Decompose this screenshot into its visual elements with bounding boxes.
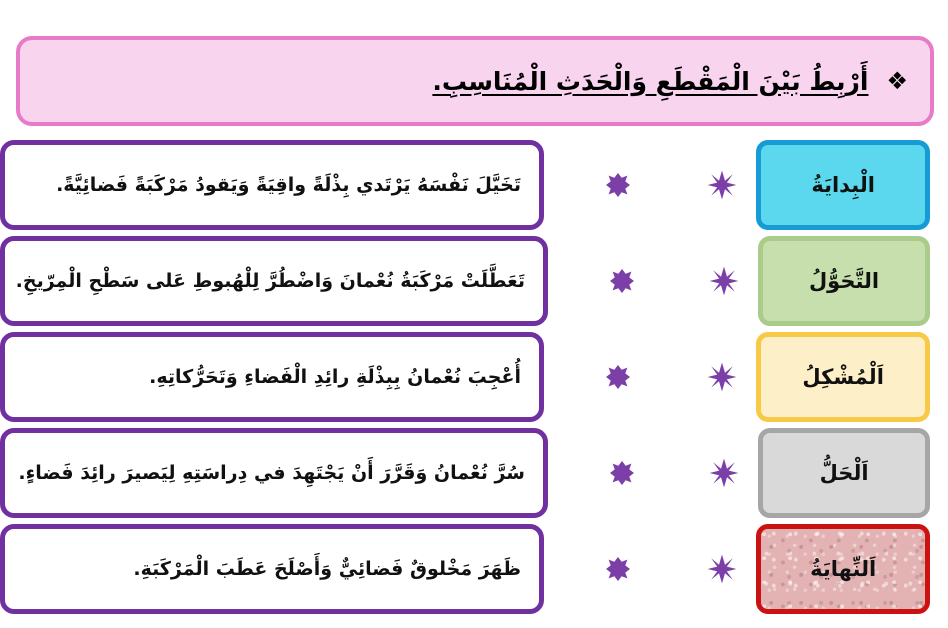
label-chip-text: اَلنِّهايَةُ: [810, 557, 876, 581]
sentence-text: سُرَّ نُعْمانُ وَقَرَّرَ أَنْ يَجْتَهِدَ…: [23, 459, 525, 488]
eight-point-sharp-star-icon[interactable]: [707, 554, 737, 584]
label-chip-end[interactable]: اَلنِّهايَةُ: [756, 524, 930, 614]
sentence-text: ظَهَرَ مَخْلوقٌ فَضائِيٌّ وَأَصْلَحَ عَط…: [23, 555, 521, 584]
connector-left-slot[interactable]: [544, 332, 693, 422]
sentence-card[interactable]: ظَهَرَ مَخْلوقٌ فَضائِيٌّ وَأَصْلَحَ عَط…: [0, 524, 544, 614]
label-chip-change[interactable]: التَّحَوُّلُ: [758, 236, 930, 326]
eight-point-blunt-star-icon[interactable]: [605, 364, 631, 390]
connector-left-slot[interactable]: [544, 140, 693, 230]
sentence-text: تَخَيَّلَ نَفْسَهُ يَرْتَدي بِذْلَةً واق…: [23, 171, 521, 200]
connector-left-slot[interactable]: [544, 524, 693, 614]
label-chip-problem[interactable]: اَلْمُشْكِلُ: [756, 332, 930, 422]
eight-point-sharp-star-icon[interactable]: [709, 458, 739, 488]
eight-point-sharp-star-icon[interactable]: [707, 362, 737, 392]
label-chip-text: اَلْحَلُّ: [820, 461, 869, 485]
eight-point-blunt-star-icon[interactable]: [605, 556, 631, 582]
connector-right-slot[interactable]: [695, 236, 752, 326]
label-chip-text: اَلْمُشْكِلُ: [802, 365, 884, 389]
table-row: اَلنِّهايَةُ ظَهَرَ مَخْلوقٌ فَضائِيٌّ و…: [0, 524, 948, 614]
sentence-card[interactable]: أُعْجِبَ نُعْمانُ بِبِذْلَةِ رائِدِ الْف…: [0, 332, 544, 422]
label-chip-solution[interactable]: اَلْحَلُّ: [758, 428, 930, 518]
matching-exercise-page: ❖ أَرْبِطُ بَيْنَ الْمَقْطَعِ وَالْحَدَث…: [0, 0, 948, 628]
label-chip-begin[interactable]: الْبِدايَةُ: [756, 140, 930, 230]
eight-point-sharp-star-icon[interactable]: [707, 170, 737, 200]
connector-right-slot[interactable]: [693, 332, 751, 422]
page-title: أَرْبِطُ بَيْنَ الْمَقْطَعِ وَالْحَدَثِ …: [432, 67, 868, 96]
label-chip-text: التَّحَوُّلُ: [809, 269, 879, 293]
table-row: الْبِدايَةُ تَخَيَّلَ نَفْسَهُ يَرْتَدي …: [0, 140, 948, 230]
matching-rows: الْبِدايَةُ تَخَيَّلَ نَفْسَهُ يَرْتَدي …: [0, 140, 948, 628]
sentence-text: تَعَطَّلَتْ مَرْكَبَةُ نُعْمانَ وَاضْطُر…: [23, 267, 525, 296]
eight-point-blunt-star-icon[interactable]: [609, 268, 635, 294]
eight-point-blunt-star-icon[interactable]: [609, 460, 635, 486]
eight-point-sharp-star-icon[interactable]: [709, 266, 739, 296]
connector-right-slot[interactable]: [693, 140, 751, 230]
eight-point-blunt-star-icon[interactable]: [605, 172, 631, 198]
four-diamond-bullet-icon: ❖: [886, 69, 908, 93]
table-row: اَلْحَلُّ سُرَّ نُعْمانُ وَقَرَّرَ أَنْ …: [0, 428, 948, 518]
instruction-banner: ❖ أَرْبِطُ بَيْنَ الْمَقْطَعِ وَالْحَدَث…: [16, 36, 934, 126]
sentence-card[interactable]: تَخَيَّلَ نَفْسَهُ يَرْتَدي بِذْلَةً واق…: [0, 140, 544, 230]
connector-left-slot[interactable]: [548, 236, 695, 326]
sentence-card[interactable]: تَعَطَّلَتْ مَرْكَبَةُ نُعْمانَ وَاضْطُر…: [0, 236, 548, 326]
table-row: اَلْمُشْكِلُ أُعْجِبَ نُعْمانُ بِبِذْلَة…: [0, 332, 948, 422]
sentence-card[interactable]: سُرَّ نُعْمانُ وَقَرَّرَ أَنْ يَجْتَهِدَ…: [0, 428, 548, 518]
connector-right-slot[interactable]: [695, 428, 752, 518]
connector-right-slot[interactable]: [693, 524, 751, 614]
table-row: التَّحَوُّلُ تَعَطَّلَتْ مَرْكَبَةُ نُعْ…: [0, 236, 948, 326]
connector-left-slot[interactable]: [548, 428, 695, 518]
label-chip-text: الْبِدايَةُ: [811, 173, 875, 197]
sentence-text: أُعْجِبَ نُعْمانُ بِبِذْلَةِ رائِدِ الْف…: [23, 363, 521, 392]
